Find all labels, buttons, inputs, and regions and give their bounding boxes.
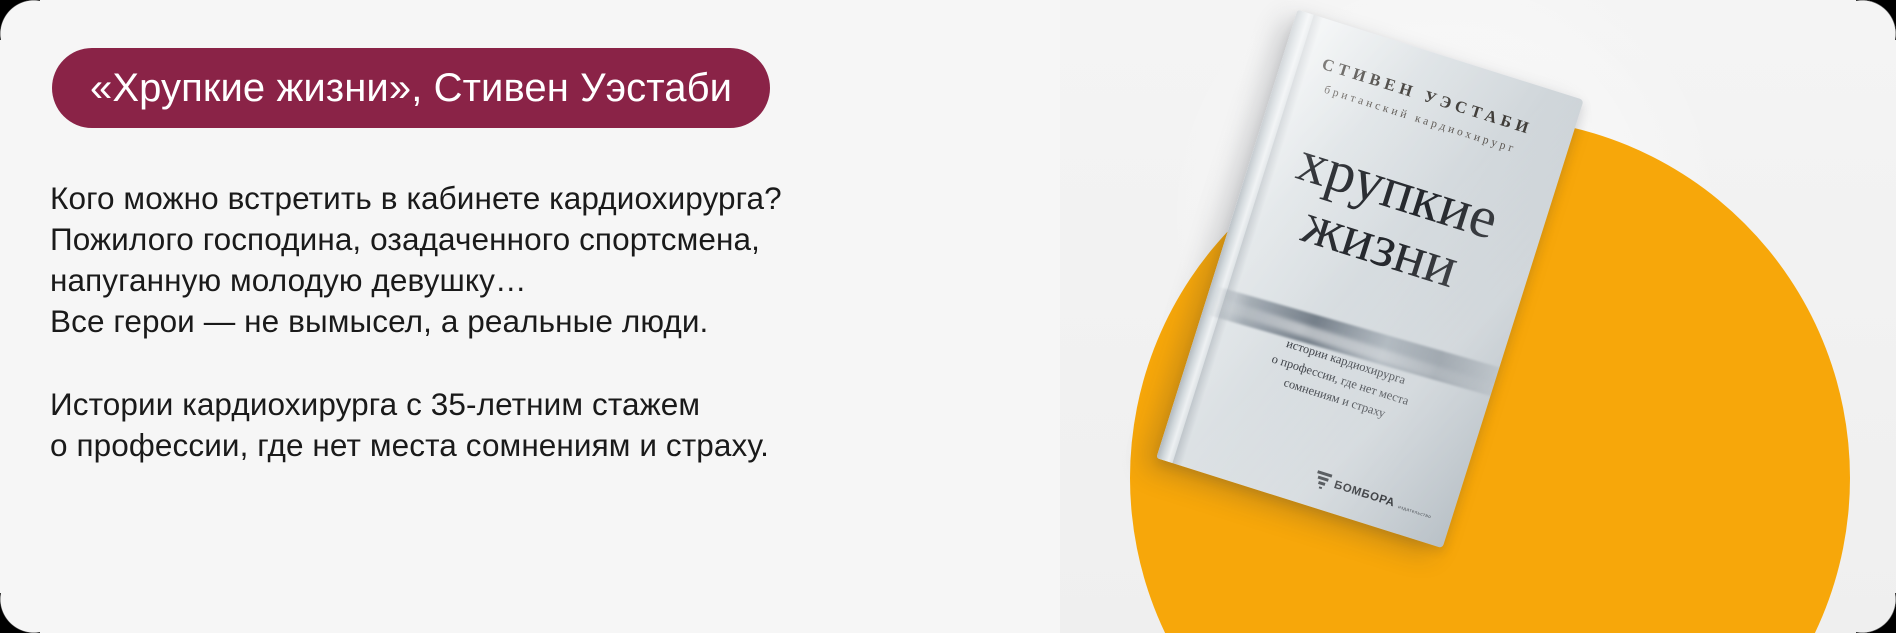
book-visual-area: СТИВЕН УЭСТАБИ британский кардиохирург х…: [1060, 0, 1896, 633]
paragraph-1-line-2: Пожилого господина, озадаченного спортсм…: [50, 219, 1070, 260]
paragraph-1-line-1: Кого можно встретить в кабинете кардиохи…: [50, 178, 1070, 219]
book-title-text: «Хрупкие жизни», Стивен Уэстаби: [90, 68, 732, 108]
corner-mask-bottom-left: [0, 593, 40, 633]
description-paragraph-2: Истории кардиохирурга с 35-летним стажем…: [50, 384, 1070, 466]
publisher-logo-text: БОМБОРА издательство: [1332, 475, 1435, 523]
publisher-name: БОМБОРА: [1332, 479, 1396, 509]
corner-mask-top-right: [1856, 0, 1896, 40]
description-paragraph-1: Кого можно встретить в кабинете кардиохи…: [50, 178, 1070, 342]
text-content-column: «Хрупкие жизни», Стивен Уэстаби Кого мож…: [0, 0, 1120, 633]
book-title-badge: «Хрупкие жизни», Стивен Уэстаби: [52, 48, 770, 128]
corner-mask-top-left: [0, 0, 40, 40]
publisher-tagline: издательство: [1398, 504, 1432, 519]
paragraph-2-line-2: о профессии, где нет места сомнениям и с…: [50, 425, 1070, 466]
publisher-mark-icon: [1313, 470, 1332, 491]
corner-mask-bottom-right: [1856, 593, 1896, 633]
paragraph-2-line-1: Истории кардиохирурга с 35-летним стажем: [50, 384, 1070, 425]
paragraph-1-line-3: напуганную молодую девушку…: [50, 260, 1070, 301]
paragraph-1-line-4: Все герои — не вымысел, а реальные люди.: [50, 301, 1070, 342]
promo-banner-card: «Хрупкие жизни», Стивен Уэстаби Кого мож…: [0, 0, 1896, 633]
description-block: Кого можно встретить в кабинете кардиохи…: [50, 178, 1070, 466]
